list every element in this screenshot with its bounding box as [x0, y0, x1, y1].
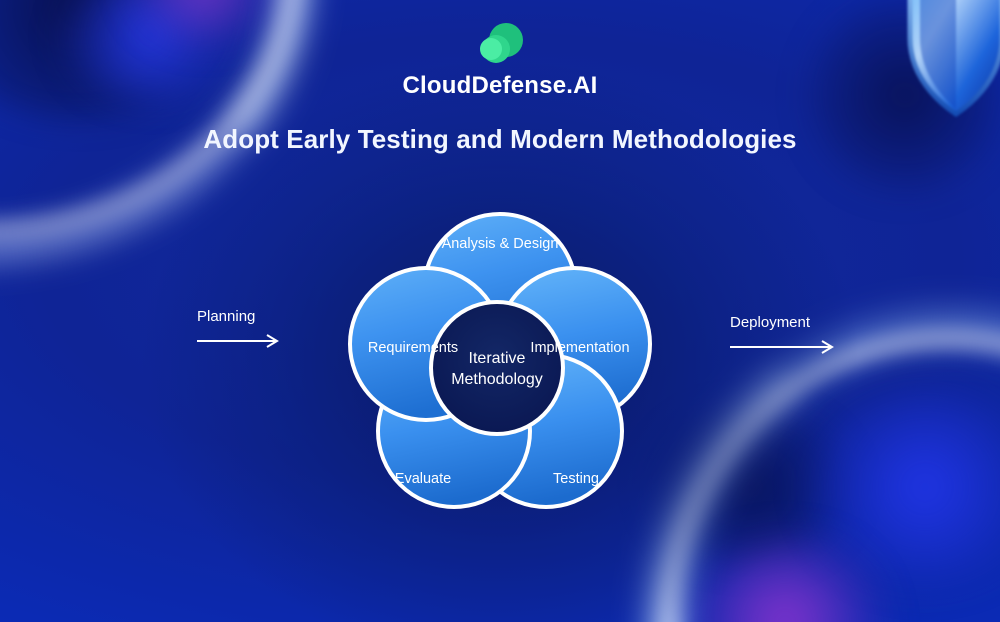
- cloud-logo-icon: [472, 22, 528, 66]
- brand-header: CloudDefense.AI: [0, 22, 1000, 100]
- iterative-methodology-diagram: Analysis & Design Implementation Testing…: [290, 160, 710, 580]
- petal-label-testing: Testing: [553, 471, 599, 487]
- center-label-line1: Iterative: [469, 350, 526, 367]
- petal-label-requirements: Requirements: [368, 340, 458, 356]
- center-label-line2: Methodology: [451, 371, 543, 388]
- arrow-right-icon: [730, 340, 838, 354]
- planning-arrow-group: Planning: [197, 308, 283, 348]
- diagram-center-circle[interactable]: [431, 302, 563, 434]
- petal-label-evaluate: Evaluate: [395, 471, 451, 487]
- petal-label-analysis-design: Analysis & Design: [442, 236, 559, 252]
- deployment-arrow-group: Deployment: [730, 314, 838, 354]
- page-content: CloudDefense.AI Adopt Early Testing and …: [0, 0, 1000, 622]
- brand-name: CloudDefense.AI: [402, 72, 597, 100]
- page-title: Adopt Early Testing and Modern Methodolo…: [0, 124, 1000, 155]
- petal-label-implementation: Implementation: [530, 340, 629, 356]
- deployment-label: Deployment: [730, 314, 838, 331]
- arrow-right-icon: [197, 334, 283, 348]
- planning-label: Planning: [197, 308, 283, 325]
